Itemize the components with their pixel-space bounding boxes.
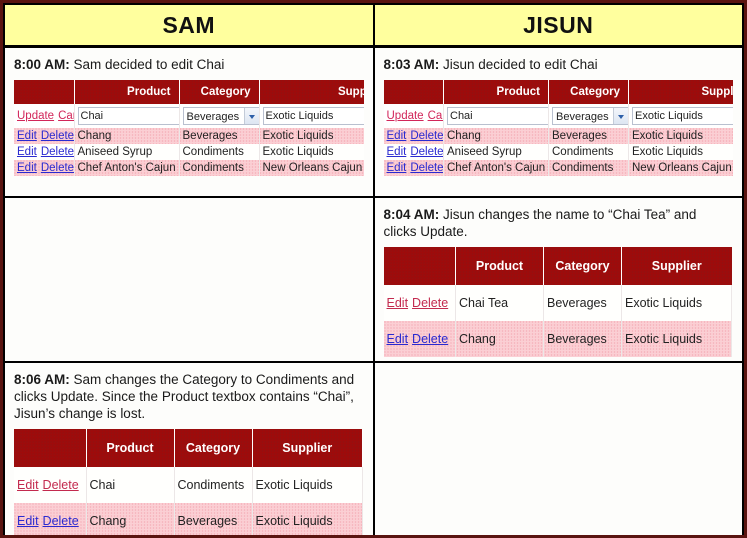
product-input[interactable]	[78, 107, 180, 125]
cell-supplier: Exotic Liquids	[622, 321, 732, 357]
supplier-input-cell	[259, 104, 364, 128]
cell-supplier: New Orleans Cajun Delights	[629, 160, 734, 176]
caption-time: 8:06 AM:	[14, 372, 70, 387]
cell-product: Chang	[74, 128, 179, 144]
product-grid: Product Category Supplier UpdateCancel	[14, 80, 364, 176]
col-header-category: Category	[174, 429, 252, 467]
col-header-category: Category	[544, 247, 622, 285]
cell-category: Condiments	[549, 160, 629, 176]
layout-grid: SAM JISUN 8:00 AM: Sam decided to edit C…	[3, 3, 744, 538]
col-header-supplier: Supplier	[622, 247, 732, 285]
row-commands: EditDelete	[384, 285, 456, 321]
delete-link[interactable]: Delete	[41, 162, 74, 174]
col-header-commands	[384, 247, 456, 285]
supplier-input[interactable]	[632, 107, 733, 125]
table-row: EditDelete Aniseed Syrup Condiments Exot…	[14, 144, 364, 160]
panel-sam-806: 8:06 AM: Sam changes the Category to Con…	[4, 362, 374, 538]
edit-link[interactable]: Edit	[17, 130, 37, 142]
product-grid: Product Category Supplier EditDelete Cha…	[384, 247, 733, 357]
table-row: EditDelete Aniseed Syrup Condiments Exot…	[384, 144, 734, 160]
chevron-down-icon[interactable]	[244, 108, 260, 124]
delete-link[interactable]: Delete	[43, 514, 79, 528]
supplier-input[interactable]	[263, 107, 364, 125]
product-grid-header: Product Category Supplier	[14, 80, 364, 104]
col-header-product: Product	[86, 429, 174, 467]
category-select[interactable]: Beverages	[183, 107, 260, 125]
edit-link[interactable]: Edit	[387, 130, 407, 142]
cell-supplier: Exotic Liquids	[629, 128, 734, 144]
panel-jisun-803: 8:03 AM: Jisun decided to edit Chai Prod…	[374, 47, 744, 198]
product-grid-wrap: Product Category Supplier EditDelete Cha…	[14, 429, 364, 538]
caption-sam-800: 8:00 AM: Sam decided to edit Chai	[14, 56, 364, 73]
cell-product: Chef Anton's Cajun	[74, 160, 179, 176]
caption-time: 8:04 AM:	[384, 207, 440, 222]
cell-category: Beverages	[544, 321, 622, 357]
caption-jisun-803: 8:03 AM: Jisun decided to edit Chai	[384, 56, 734, 73]
row-commands: EditDelete	[384, 321, 456, 357]
table-row: EditDelete Chang Beverages Exotic Liquid…	[14, 128, 364, 144]
category-select[interactable]: Beverages	[552, 107, 629, 125]
product-grid-wrap: Product Category Supplier EditDelete Cha…	[384, 247, 734, 357]
cell-product: Chang	[456, 321, 544, 357]
edit-row-commands: UpdateCancel	[384, 104, 444, 128]
cancel-link[interactable]: Cancel	[428, 110, 444, 122]
col-header-commands	[14, 80, 74, 104]
page-title-jisun: JISUN	[375, 5, 743, 45]
row-commands: EditDelete	[384, 160, 444, 176]
row-commands: EditDelete	[384, 144, 444, 160]
panel-sam-empty	[4, 197, 374, 362]
row-commands: EditDelete	[14, 160, 74, 176]
panel-jisun-804: 8:04 AM: Jisun changes the name to “Chai…	[374, 197, 744, 362]
table-row: EditDelete Chef Anton's Cajun Condiments…	[14, 160, 364, 176]
cell-category: Condiments	[179, 144, 259, 160]
delete-link[interactable]: Delete	[412, 296, 448, 310]
cell-supplier: New Orleans Cajun Delights	[259, 160, 364, 176]
caption-time: 8:03 AM:	[384, 57, 440, 72]
product-grid-header: Product Category Supplier	[384, 247, 732, 285]
panel-jisun-empty	[374, 362, 744, 538]
edit-link[interactable]: Edit	[387, 146, 407, 158]
col-header-product: Product	[456, 247, 544, 285]
delete-link[interactable]: Delete	[410, 146, 443, 158]
col-header-supplier: Supplier	[252, 429, 362, 467]
edit-link[interactable]: Edit	[17, 514, 39, 528]
category-select-cell: Beverages	[549, 104, 629, 128]
edit-link[interactable]: Edit	[387, 162, 407, 174]
cell-product: Chai	[86, 467, 174, 503]
delete-link[interactable]: Delete	[41, 130, 74, 142]
col-header-category: Category	[179, 80, 259, 104]
product-grid-wrap: Product Category Supplier UpdateCancel	[384, 80, 734, 176]
col-header-category: Category	[549, 80, 629, 104]
edit-link[interactable]: Edit	[387, 332, 409, 346]
cell-product: Chang	[444, 128, 549, 144]
edit-link[interactable]: Edit	[17, 162, 37, 174]
table-row: EditDelete Chang Beverages Exotic Liquid…	[14, 503, 362, 538]
product-input-cell	[74, 104, 179, 128]
cell-category: Condiments	[179, 160, 259, 176]
cell-supplier: Exotic Liquids	[259, 128, 364, 144]
col-header-supplier: Supplier	[259, 80, 364, 104]
table-row: EditDelete Chang Beverages Exotic Liquid…	[384, 128, 734, 144]
cell-product: Chai Tea	[456, 285, 544, 321]
product-input[interactable]	[447, 107, 549, 125]
cell-supplier: Exotic Liquids	[252, 467, 362, 503]
delete-link[interactable]: Delete	[41, 146, 74, 158]
edit-link[interactable]: Edit	[17, 146, 37, 158]
cell-supplier: Exotic Liquids	[252, 503, 362, 538]
cell-category: Condiments	[174, 467, 252, 503]
row-commands: EditDelete	[14, 128, 74, 144]
caption-text: Sam decided to edit Chai	[70, 57, 225, 72]
update-link[interactable]: Update	[17, 110, 54, 122]
product-grid-wrap: Product Category Supplier UpdateCancel	[14, 80, 364, 176]
col-header-product: Product	[74, 80, 179, 104]
cell-category: Condiments	[549, 144, 629, 160]
table-row: EditDelete Chef Anton's Cajun Condiments…	[384, 160, 734, 176]
row-commands: EditDelete	[14, 467, 86, 503]
product-grid: Product Category Supplier EditDelete Cha…	[14, 429, 363, 538]
table-row: EditDelete Chang Beverages Exotic Liquid…	[384, 321, 732, 357]
product-grid-header: Product Category Supplier	[14, 429, 362, 467]
delete-link[interactable]: Delete	[410, 162, 443, 174]
caption-jisun-804: 8:04 AM: Jisun changes the name to “Chai…	[384, 206, 734, 240]
cell-product: Aniseed Syrup	[74, 144, 179, 160]
delete-link[interactable]: Delete	[410, 130, 443, 142]
delete-link[interactable]: Delete	[412, 332, 448, 346]
row-commands: EditDelete	[384, 128, 444, 144]
timeline-row-2: 8:04 AM: Jisun changes the name to “Chai…	[4, 197, 743, 362]
edit-row: UpdateCancel Beverages	[14, 104, 364, 128]
cell-supplier: Exotic Liquids	[622, 285, 732, 321]
header-cell-jisun: JISUN	[374, 4, 744, 47]
cell-category: Beverages	[544, 285, 622, 321]
update-link[interactable]: Update	[387, 110, 424, 122]
caption-text: Jisun decided to edit Chai	[439, 57, 597, 72]
edit-row: UpdateCancel Beverages	[384, 104, 734, 128]
header-row: SAM JISUN	[4, 4, 743, 47]
timeline-row-1: 8:00 AM: Sam decided to edit Chai Produc…	[4, 47, 743, 198]
row-commands: EditDelete	[14, 144, 74, 160]
caption-time: 8:00 AM:	[14, 57, 70, 72]
timeline-row-3: 8:06 AM: Sam changes the Category to Con…	[4, 362, 743, 538]
panel-sam-800: 8:00 AM: Sam decided to edit Chai Produc…	[4, 47, 374, 198]
col-header-supplier: Supplier	[629, 80, 734, 104]
product-input-cell	[444, 104, 549, 128]
col-header-commands	[384, 80, 444, 104]
caption-sam-806: 8:06 AM: Sam changes the Category to Con…	[14, 371, 364, 422]
cell-product: Aniseed Syrup	[444, 144, 549, 160]
cell-product: Chef Anton's Cajun	[444, 160, 549, 176]
col-header-product: Product	[444, 80, 549, 104]
table-row: EditDelete Chai Tea Beverages Exotic Liq…	[384, 285, 732, 321]
supplier-input-cell	[629, 104, 734, 128]
comparison-diagram: SAM JISUN 8:00 AM: Sam decided to edit C…	[0, 0, 747, 538]
table-row: EditDelete Chai Condiments Exotic Liquid…	[14, 467, 362, 503]
category-select-cell: Beverages	[179, 104, 259, 128]
cell-product: Chang	[86, 503, 174, 538]
cell-supplier: Exotic Liquids	[629, 144, 734, 160]
cell-category: Beverages	[174, 503, 252, 538]
col-header-commands	[14, 429, 86, 467]
page-title-sam: SAM	[5, 5, 373, 45]
cell-category: Beverages	[179, 128, 259, 144]
row-commands: EditDelete	[14, 503, 86, 538]
edit-link[interactable]: Edit	[387, 296, 409, 310]
cell-category: Beverages	[549, 128, 629, 144]
cancel-link[interactable]: Cancel	[58, 110, 74, 122]
product-grid: Product Category Supplier UpdateCancel	[384, 80, 734, 176]
cell-supplier: Exotic Liquids	[259, 144, 364, 160]
delete-link[interactable]: Delete	[43, 478, 79, 492]
edit-row-commands: UpdateCancel	[14, 104, 74, 128]
product-grid-header: Product Category Supplier	[384, 80, 734, 104]
chevron-down-icon[interactable]	[613, 108, 629, 124]
edit-link[interactable]: Edit	[17, 478, 39, 492]
header-cell-sam: SAM	[4, 4, 374, 47]
